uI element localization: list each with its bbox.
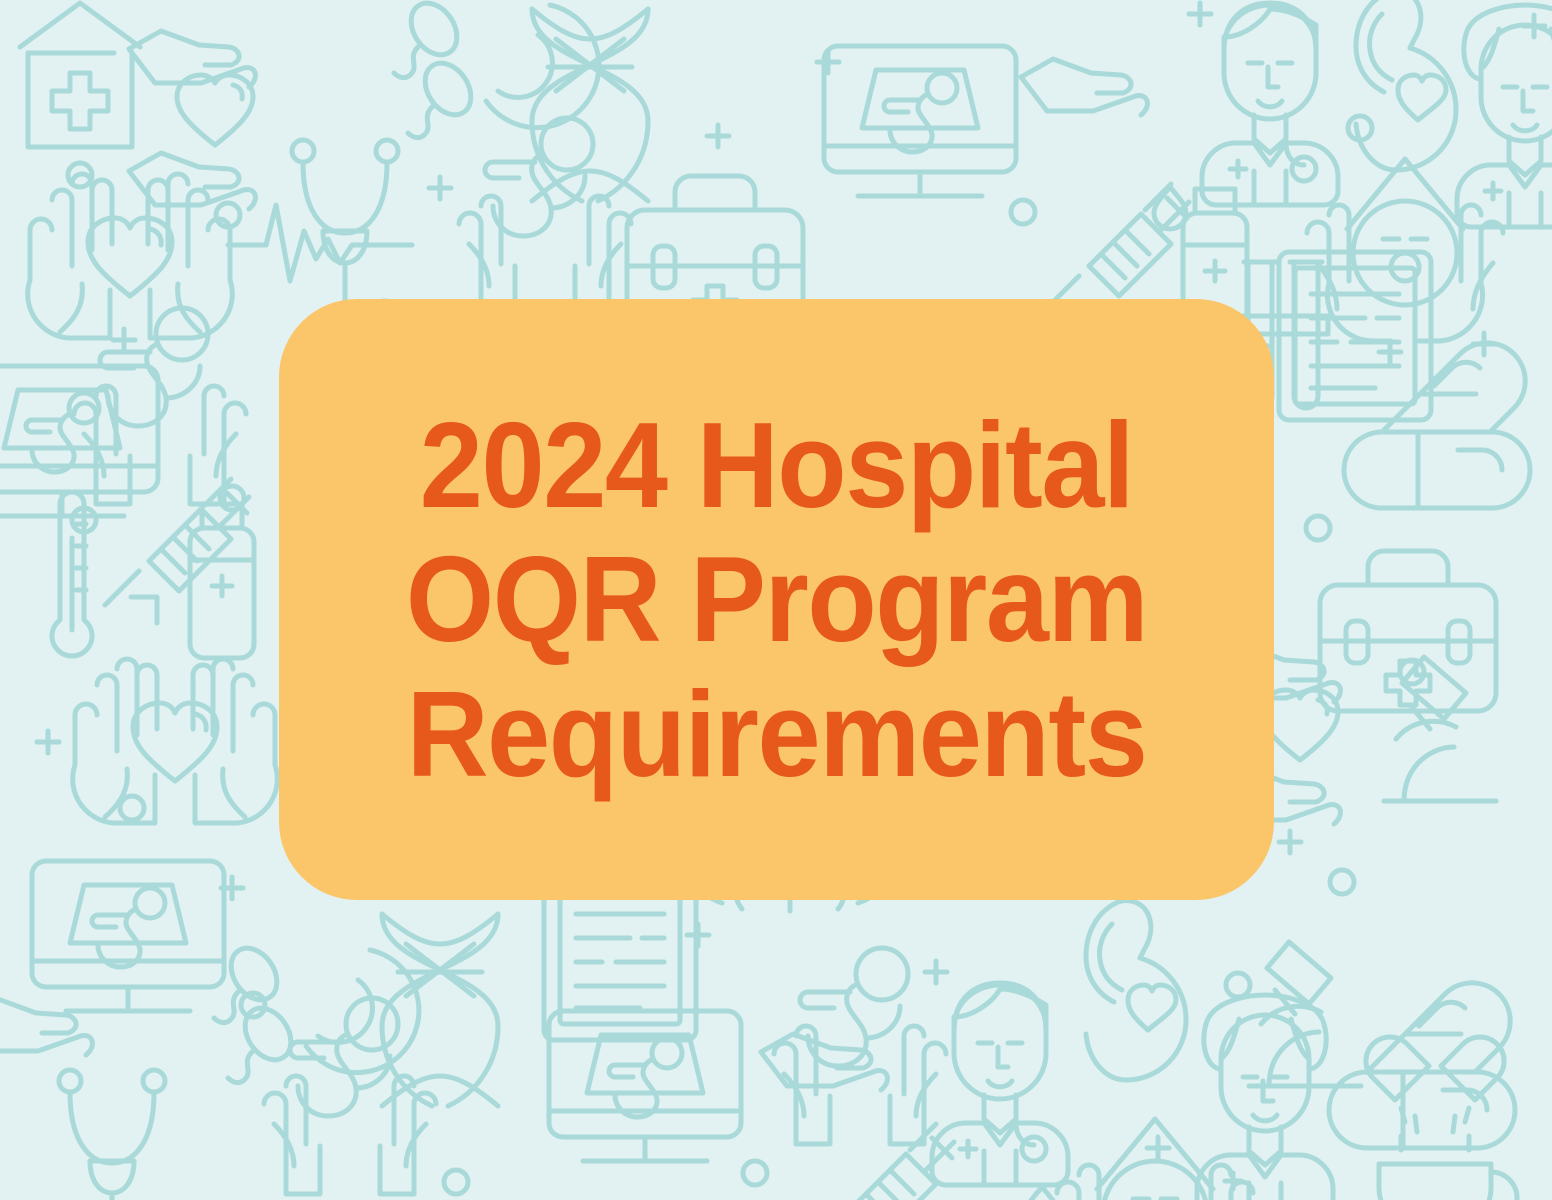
page-title: 2024 Hospital OQR Program Requirements <box>406 398 1147 801</box>
slide-canvas: 2024 Hospital OQR Program Requirements <box>0 0 1552 1200</box>
title-card: 2024 Hospital OQR Program Requirements <box>279 299 1274 900</box>
